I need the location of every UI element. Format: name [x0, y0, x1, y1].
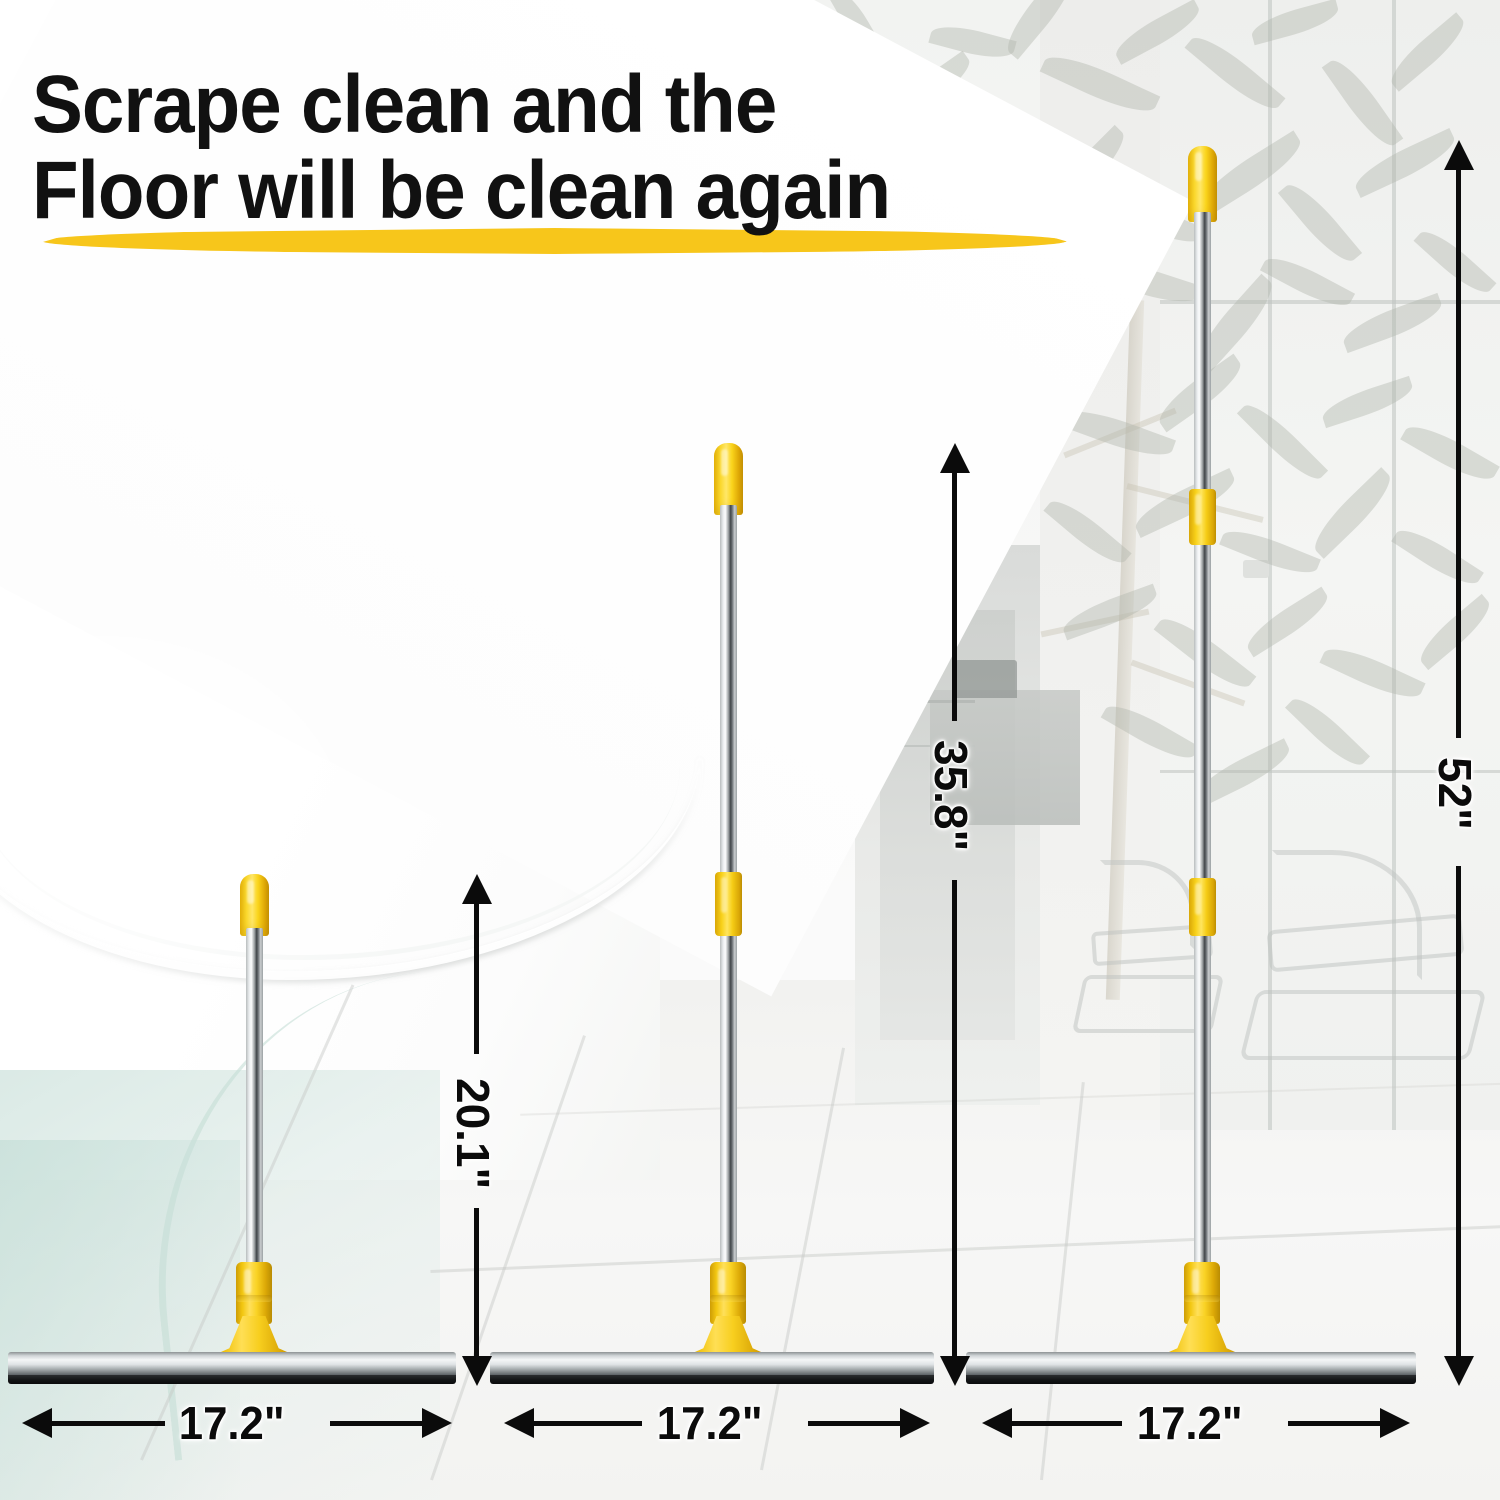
dimension-line	[808, 1421, 904, 1426]
handle-cap	[1188, 146, 1217, 222]
dimension-line	[1288, 1421, 1384, 1426]
extension-collar	[1189, 489, 1216, 545]
arrow-up-icon	[940, 443, 970, 473]
arrow-left-icon	[504, 1408, 534, 1438]
arrow-up-icon	[1444, 140, 1474, 170]
dimension-label-height-1: 20.1"	[446, 1078, 500, 1189]
extension-collar	[1189, 878, 1216, 936]
dimension-line	[474, 902, 479, 1054]
t-connector-sleeve	[1184, 1262, 1220, 1324]
handle-cap	[240, 874, 269, 936]
chrome-pole	[1194, 212, 1211, 1270]
dimension-line	[1010, 1421, 1122, 1426]
dimension-label-height-2: 35.8"	[924, 740, 978, 851]
patio-chair-frame	[1239, 990, 1486, 1060]
t-connector-sleeve	[710, 1262, 746, 1324]
arrow-down-icon	[462, 1356, 492, 1386]
rubber-blade	[966, 1375, 1416, 1384]
dimension-line	[952, 880, 957, 1358]
arrow-right-icon	[900, 1408, 930, 1438]
arrow-right-icon	[1380, 1408, 1410, 1438]
dimension-label-width-3: 17.2"	[1137, 1396, 1243, 1450]
dimension-line	[532, 1421, 642, 1426]
headline-text: Scrape clean and the Floor will be clean…	[32, 62, 1055, 234]
rubber-blade	[490, 1375, 934, 1384]
arrow-left-icon	[22, 1408, 52, 1438]
arrow-right-icon	[422, 1408, 452, 1438]
dimension-line	[474, 1208, 479, 1358]
dimension-line	[1456, 866, 1461, 1358]
dimension-line	[50, 1421, 165, 1426]
product-infographic: Scrape clean and the Floor will be clean…	[0, 0, 1500, 1500]
arrow-up-icon	[462, 874, 492, 904]
dimension-label-width-1: 17.2"	[179, 1396, 285, 1450]
headline-block: Scrape clean and the Floor will be clean…	[32, 62, 1132, 234]
chrome-pole	[246, 928, 263, 1268]
arrow-left-icon	[982, 1408, 1012, 1438]
dimension-line	[1456, 168, 1461, 738]
dimension-label-width-2: 17.2"	[657, 1396, 763, 1450]
background-counter-object	[955, 660, 1017, 698]
dimension-line	[952, 471, 957, 721]
dimension-line	[330, 1421, 426, 1426]
rubber-blade	[8, 1375, 456, 1384]
arrow-down-icon	[940, 1356, 970, 1386]
arrow-down-icon	[1444, 1356, 1474, 1386]
extension-collar	[715, 872, 742, 936]
dimension-label-height-3: 52"	[1428, 757, 1482, 830]
t-connector-sleeve	[236, 1262, 272, 1324]
